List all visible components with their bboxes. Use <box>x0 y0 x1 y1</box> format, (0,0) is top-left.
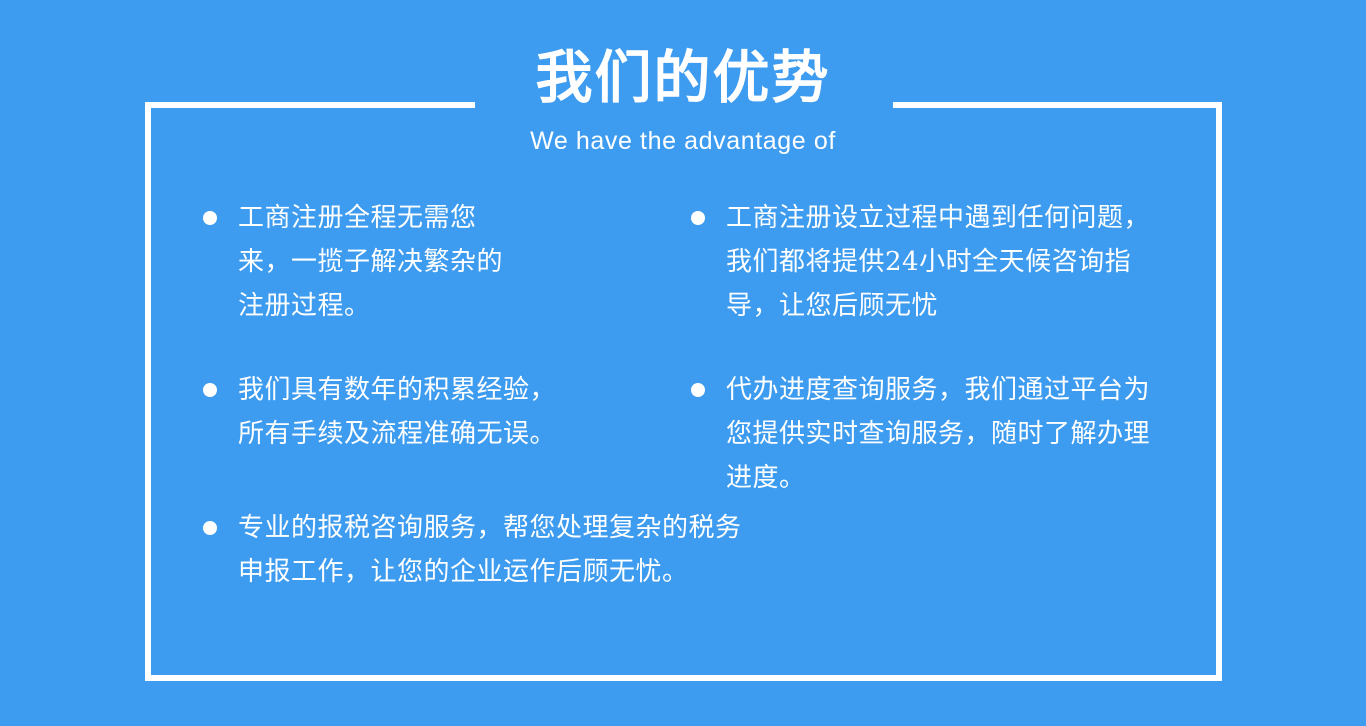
advantages-columns: 工商注册全程无需您来，一揽子解决繁杂的注册过程。 我们具有数年的积累经验，所有手… <box>145 196 1222 666</box>
advantage-poster: 我们的优势 We have the advantage of 工商注册全程无需您… <box>0 0 1366 726</box>
advantage-text: 专业的报税咨询服务，帮您处理复杂的税务申报工作，让您的企业运作后顾无忧。 <box>238 506 753 594</box>
frame-bottom-edge <box>145 675 1222 681</box>
advantage-text: 我们具有数年的积累经验，所有手续及流程准确无误。 <box>238 368 558 456</box>
bullet-dot-icon <box>691 211 705 225</box>
page-title: 我们的优势 <box>0 48 1366 110</box>
list-item: 专业的报税咨询服务，帮您处理复杂的税务申报工作，让您的企业运作后顾无忧。 <box>193 506 753 594</box>
advantages-column-left: 工商注册全程无需您来，一揽子解决繁杂的注册过程。 我们具有数年的积累经验，所有手… <box>193 196 753 634</box>
list-item: 代办进度查询服务，我们通过平台为您提供实时查询服务，随时了解办理进度。 <box>681 368 1201 500</box>
advantage-text: 代办进度查询服务，我们通过平台为您提供实时查询服务，随时了解办理进度。 <box>726 368 1158 500</box>
bullet-dot-icon <box>203 211 217 225</box>
bullet-dot-icon <box>691 383 705 397</box>
advantage-text: 工商注册全程无需您来，一揽子解决繁杂的注册过程。 <box>238 196 510 328</box>
advantage-text: 工商注册设立过程中遇到任何问题，我们都将提供24小时全天候咨询指导，让您后顾无忧 <box>726 196 1158 328</box>
heading-block: 我们的优势 We have the advantage of <box>0 48 1366 156</box>
page-subtitle: We have the advantage of <box>0 126 1366 156</box>
list-item: 我们具有数年的积累经验，所有手续及流程准确无误。 <box>193 368 753 456</box>
bullet-dot-icon <box>203 521 217 535</box>
bullet-dot-icon <box>203 383 217 397</box>
list-item: 工商注册设立过程中遇到任何问题，我们都将提供24小时全天候咨询指导，让您后顾无忧 <box>681 196 1201 328</box>
advantages-column-right: 工商注册设立过程中遇到任何问题，我们都将提供24小时全天候咨询指导，让您后顾无忧… <box>681 196 1201 540</box>
list-item: 工商注册全程无需您来，一揽子解决繁杂的注册过程。 <box>193 196 753 328</box>
